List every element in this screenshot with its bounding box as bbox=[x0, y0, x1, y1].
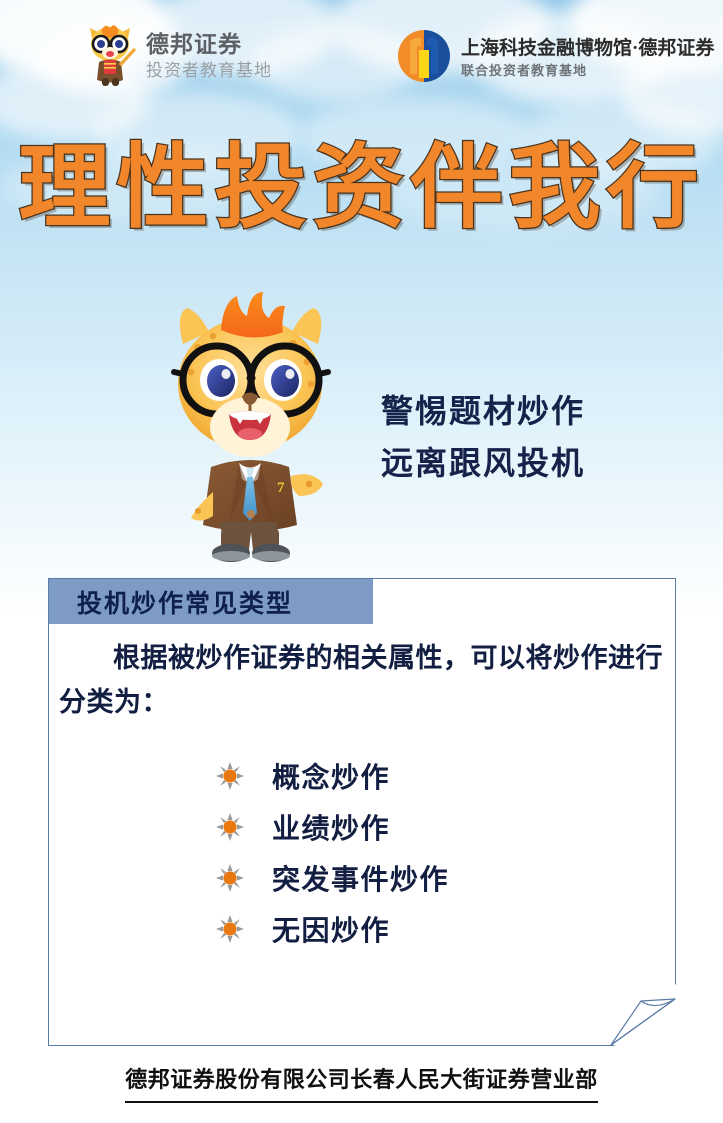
list-item-label: 突发事件炒作 bbox=[272, 858, 449, 898]
header-bar: 德邦证券 投资者教育基地 上海科技金融博物馆·德邦证券 联合投资者教育基地 bbox=[0, 0, 723, 110]
tiger-mascot-icon bbox=[80, 24, 140, 88]
brand-title-right: 上海科技金融博物馆·德邦证券 bbox=[461, 38, 714, 60]
hero-tagline-line1: 警惕题材炒作 bbox=[381, 386, 585, 438]
card-paragraph: 根据被炒作证券的相关属性，可以将炒作进行分类为： bbox=[49, 637, 677, 724]
svg-text:7: 7 bbox=[277, 480, 285, 496]
card-body: 根据被炒作证券的相关属性，可以将炒作进行分类为： bbox=[49, 637, 677, 954]
brand-logo-left[interactable]: 德邦证券 投资者教育基地 bbox=[80, 24, 272, 88]
list-item: 突发事件炒作 bbox=[49, 852, 677, 903]
hero-tagline-line2: 远离跟风投机 bbox=[381, 438, 585, 490]
page-title: 理性投资伴我行 bbox=[0, 140, 723, 237]
brand-logo-right[interactable]: 上海科技金融博物馆·德邦证券 联合投资者教育基地 bbox=[396, 28, 714, 89]
brand-title-left: 德邦证券 bbox=[146, 32, 272, 58]
list-item-label: 概念炒作 bbox=[272, 756, 390, 796]
sun-burst-icon bbox=[216, 762, 244, 790]
card-corner-mask bbox=[614, 984, 676, 1046]
poster-root: 德邦证券 投资者教育基地 上海科技金融博物馆·德邦证券 联合投资者教育基地 理性… bbox=[0, 0, 723, 1123]
footer-branch-name: 德邦证券股份有限公司长春人民大街证券营业部 bbox=[125, 1062, 598, 1103]
sun-burst-icon bbox=[216, 864, 244, 892]
footer: 德邦证券股份有限公司长春人民大街证券营业部 bbox=[0, 1062, 723, 1103]
category-list: 概念炒作 bbox=[49, 750, 677, 954]
card-header-label: 投机炒作常见类型 bbox=[77, 584, 293, 620]
list-item: 概念炒作 bbox=[49, 750, 677, 801]
list-item-label: 业绩炒作 bbox=[272, 807, 390, 847]
card-header-band: 投机炒作常见类型 bbox=[49, 579, 373, 624]
sun-burst-icon bbox=[216, 915, 244, 943]
sun-burst-icon bbox=[216, 813, 244, 841]
brand-subtitle-left: 投资者教育基地 bbox=[146, 61, 272, 80]
hero-tagline: 警惕题材炒作 远离跟风投机 bbox=[381, 386, 585, 490]
tiger-mascot-large-icon: 7 bbox=[143, 292, 358, 564]
brand-subtitle-right: 联合投资者教育基地 bbox=[461, 64, 714, 79]
museum-circle-mark-icon bbox=[396, 28, 452, 89]
list-item-label: 无因炒作 bbox=[272, 909, 390, 949]
list-item: 无因炒作 bbox=[49, 903, 677, 954]
list-item: 业绩炒作 bbox=[49, 801, 677, 852]
content-card: 投机炒作常见类型 根据被炒作证券的相关属性，可以将炒作进行分类为： bbox=[48, 578, 676, 1046]
